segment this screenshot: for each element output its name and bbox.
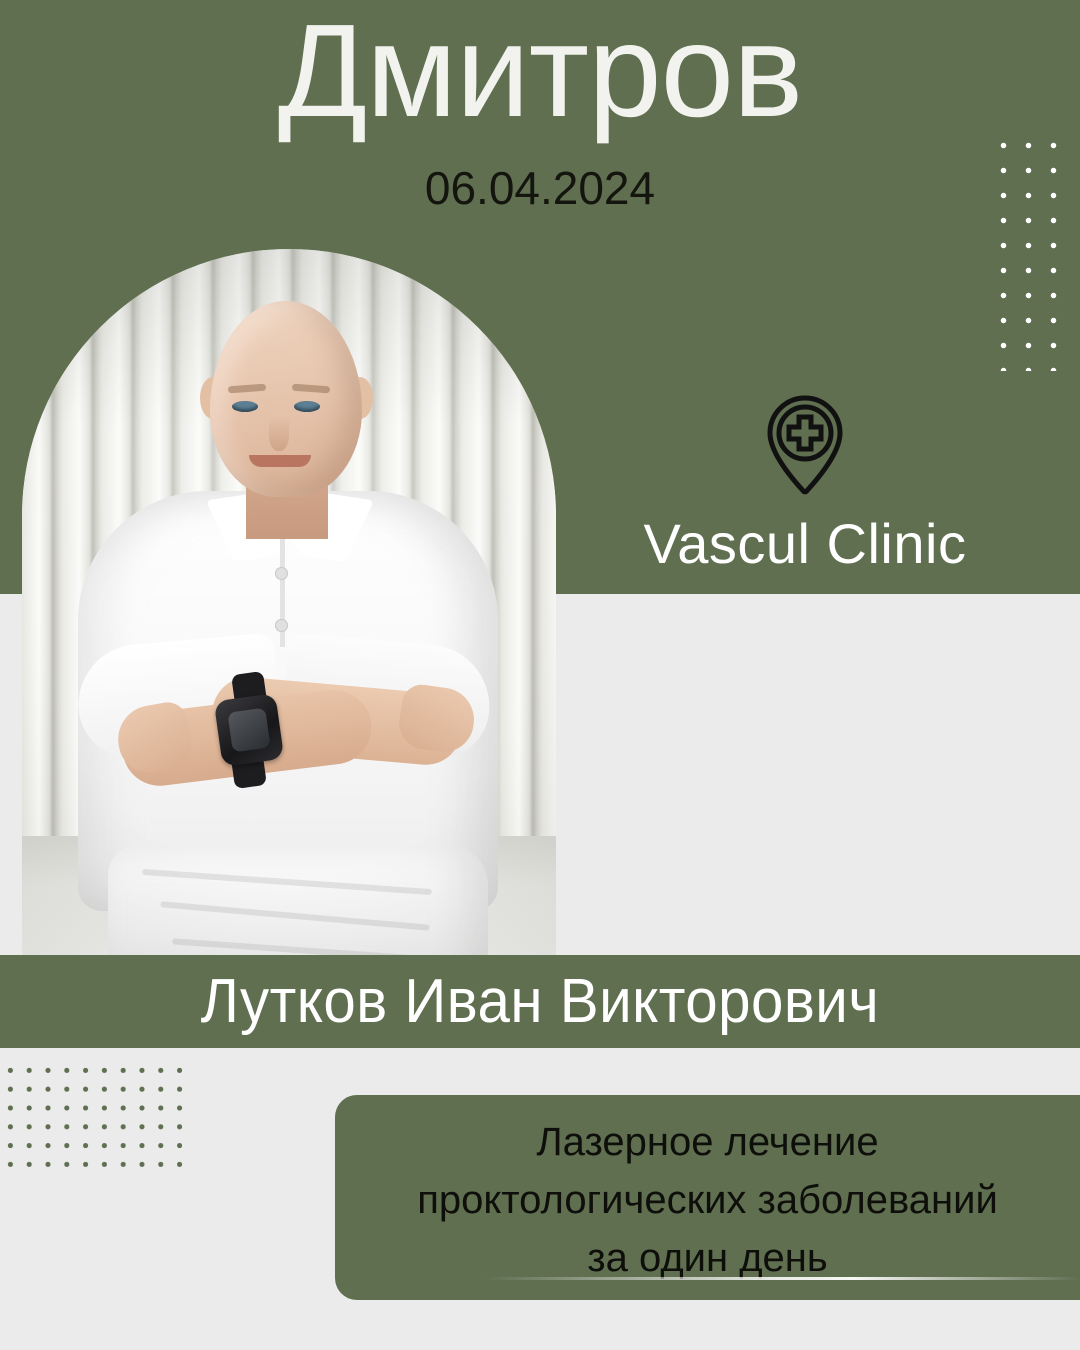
poster-canvas: Дмитров 06.04.2024 Vascul Clinic bbox=[0, 0, 1080, 1350]
clinic-name: Vascul Clinic bbox=[610, 512, 1000, 576]
white-trousers bbox=[108, 845, 488, 956]
wristwatch bbox=[214, 693, 285, 767]
service-description-card: Лазерное лечение проктологических заболе… bbox=[335, 1095, 1080, 1300]
mouth bbox=[249, 455, 311, 467]
map-pin-medical-cross-icon bbox=[759, 392, 851, 496]
clinic-logo-block: Vascul Clinic bbox=[610, 392, 1000, 576]
page-title: Дмитров bbox=[0, 0, 1080, 146]
nose bbox=[269, 417, 289, 451]
eye-right bbox=[294, 401, 320, 412]
shirt-button-top bbox=[275, 567, 288, 580]
shirt-button-bottom bbox=[275, 619, 288, 632]
service-line: проктологических заболеваний bbox=[335, 1171, 1080, 1229]
head bbox=[210, 301, 362, 497]
doctor-name: Лутков Иван Викторович bbox=[201, 966, 880, 1038]
dot-grid-icon-bottom-left bbox=[0, 1058, 192, 1176]
doctor-name-banner: Лутков Иван Викторович bbox=[0, 955, 1080, 1048]
service-text-block: Лазерное лечение проктологических заболе… bbox=[335, 1113, 1080, 1287]
doctor-figure bbox=[22, 249, 556, 956]
service-line: Лазерное лечение bbox=[335, 1113, 1080, 1171]
card-underline-accent bbox=[485, 1277, 1080, 1280]
event-date: 06.04.2024 bbox=[0, 160, 1080, 216]
dot-grid-icon-top-right bbox=[989, 131, 1073, 371]
doctor-photo bbox=[22, 249, 556, 956]
eye-left bbox=[232, 401, 258, 412]
